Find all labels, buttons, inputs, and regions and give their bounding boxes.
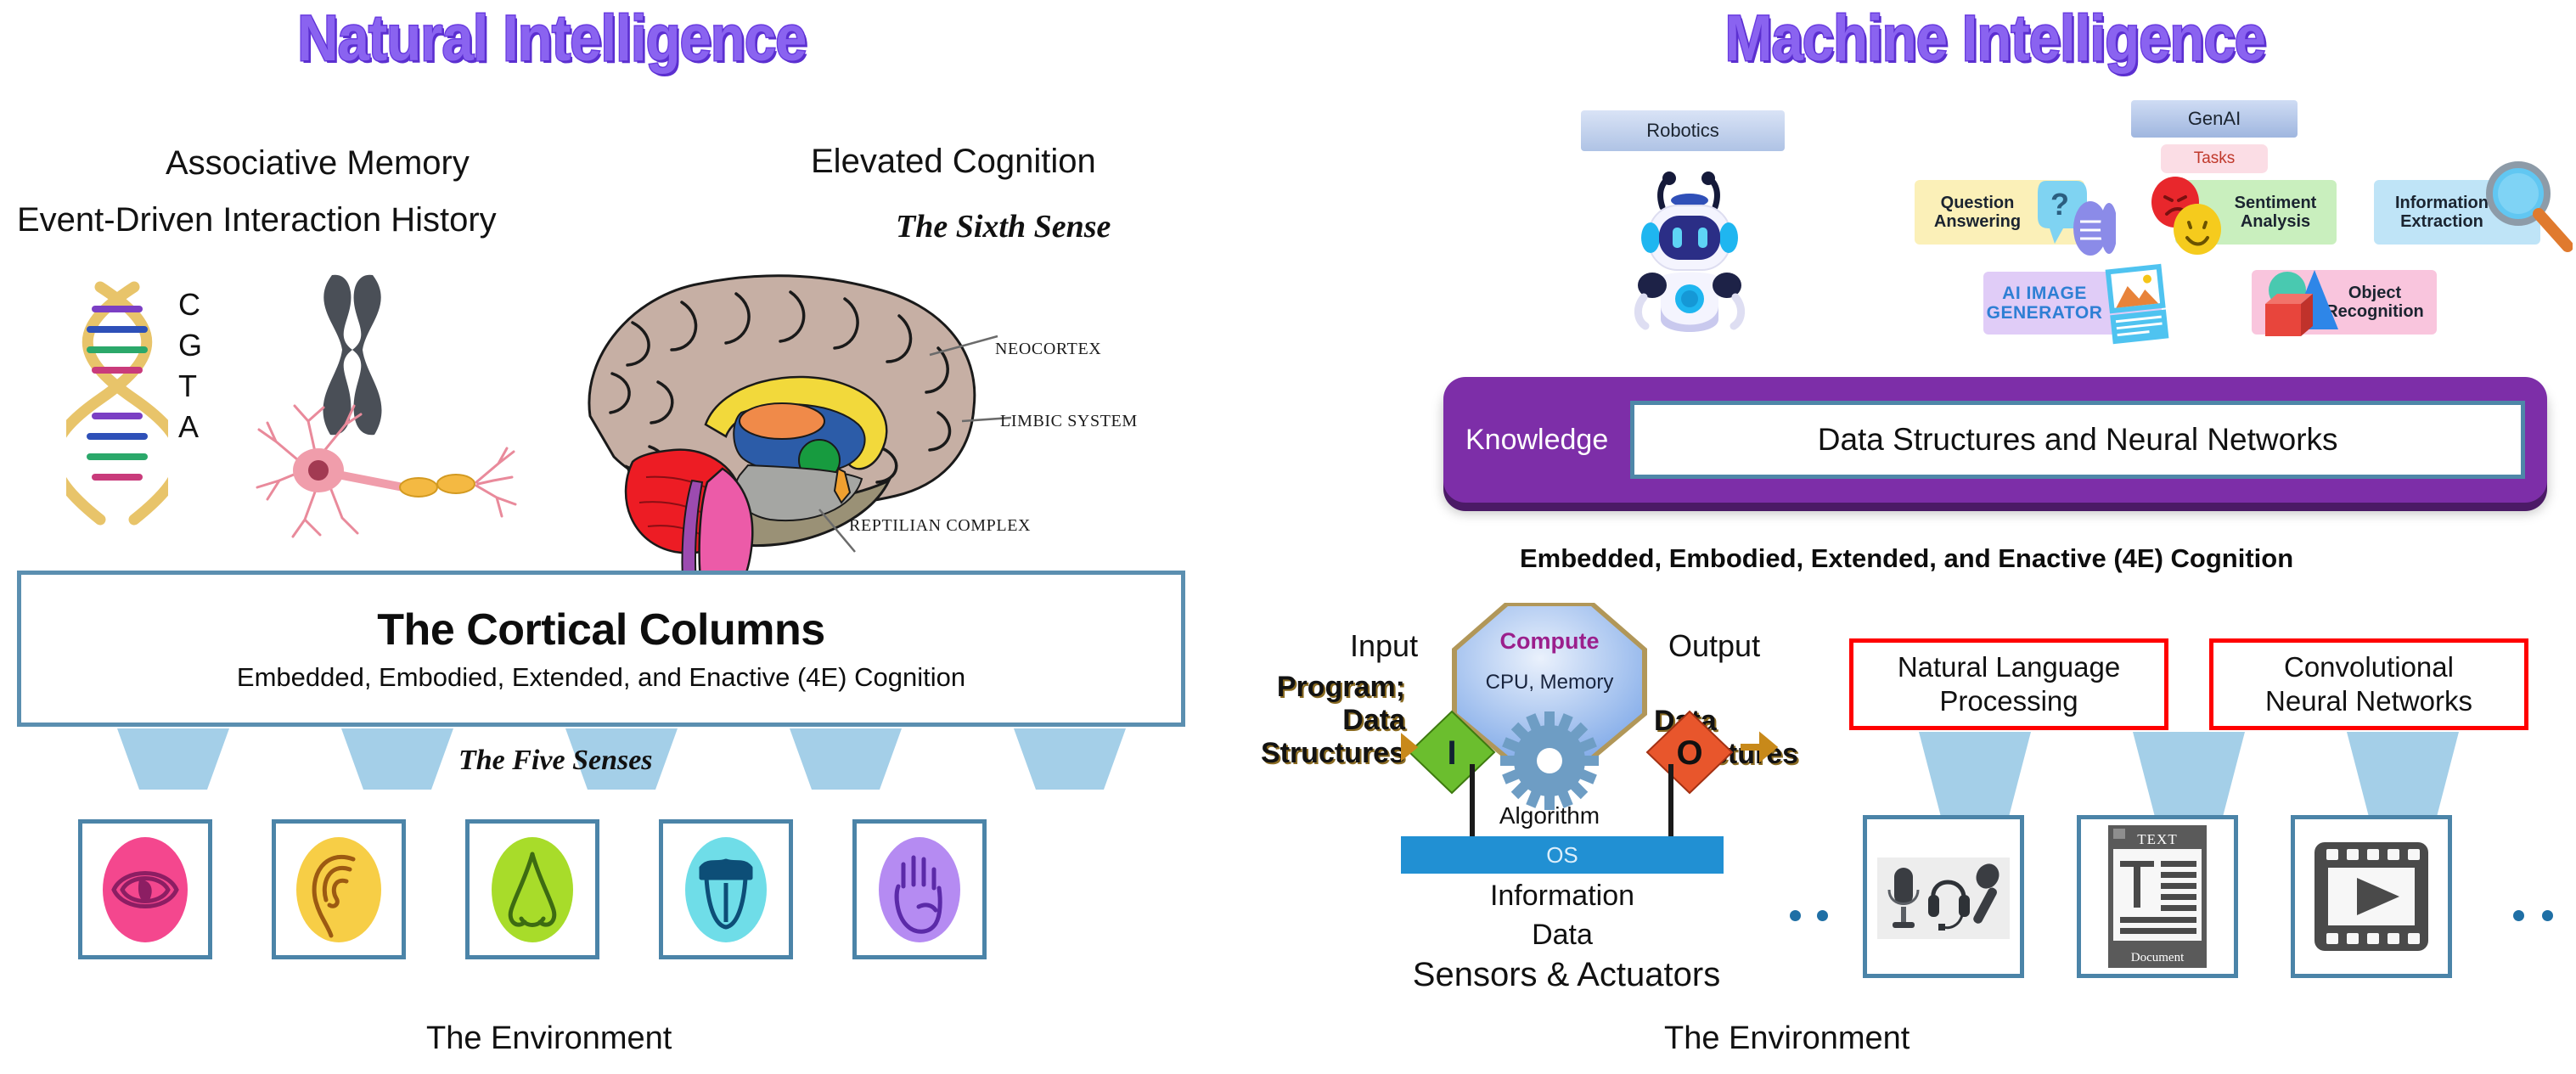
dna-base-g: G	[178, 325, 202, 366]
knowledge-bar: Knowledge Data Structures and Neural Net…	[1443, 377, 2547, 503]
ellipsis-dot	[1790, 910, 1801, 921]
diagram-canvas: Natural Intelligence Associative Memory …	[0, 0, 2576, 1074]
input-label: Input	[1350, 628, 1418, 664]
os-bar: OS	[1401, 836, 1724, 874]
input-detail-line: Data	[1214, 704, 1405, 737]
task-chip-label: Question Answering	[1915, 194, 2040, 231]
elevated-cognition-heading: Elevated Cognition	[811, 143, 1096, 181]
picture-icon	[2097, 263, 2177, 345]
hand-icon	[873, 834, 966, 946]
modality-funnels-right	[1849, 732, 2528, 817]
magnifier-icon	[2479, 158, 2573, 260]
five-senses-label: The Five Senses	[458, 745, 653, 777]
associative-memory-heading: Associative Memory	[166, 144, 470, 183]
svg-text:Document: Document	[2131, 951, 2185, 964]
brain-label-reptilian-complex: REPTILIAN COMPLEX	[849, 516, 1031, 536]
svg-text:I: I	[1447, 734, 1456, 772]
output-label: Output	[1668, 628, 1760, 664]
text-document-icon: TEXT Document	[2108, 825, 2207, 968]
ear-icon	[292, 834, 385, 946]
cortical-columns-title: The Cortical Columns	[377, 604, 824, 655]
dna-base-t: T	[178, 366, 202, 407]
io-nodes-icon: I O	[1401, 703, 1783, 856]
ellipsis-dot	[1817, 910, 1828, 921]
sense-card-touch[interactable]	[852, 819, 987, 959]
robot-icon	[1613, 170, 1766, 348]
sense-card-taste[interactable]	[659, 819, 793, 959]
dna-base-c: C	[178, 284, 202, 325]
knowledge-content-box: Data Structures and Neural Networks	[1630, 401, 2525, 479]
sensors-actuators-label: Sensors & Actuators	[1367, 956, 1766, 994]
cpu-memory-label: CPU, Memory	[1443, 671, 1656, 694]
modality-card-video[interactable]	[2291, 815, 2452, 978]
genai-label: GenAI	[2188, 108, 2241, 130]
model-box-label: ConvolutionalNeural Networks	[2265, 650, 2472, 719]
data-label: Data	[1401, 919, 1724, 952]
event-driven-heading: Event-Driven Interaction History	[17, 201, 497, 239]
genai-chip[interactable]: GenAI	[2131, 100, 2298, 138]
ellipsis-dot	[2542, 910, 2553, 921]
model-box-label: Natural LanguageProcessing	[1898, 650, 2120, 719]
sense-card-smell[interactable]	[465, 819, 599, 959]
brain-label-limbic-system: LIMBIC SYSTEM	[1000, 412, 1138, 431]
input-detail-line: Structures	[1214, 737, 1405, 770]
right-four-e-cognition-line: Embedded, Embodied, Extended, and Enacti…	[1520, 543, 2293, 574]
dna-helix-icon	[66, 280, 168, 526]
knowledge-content: Data Structures and Neural Networks	[1818, 422, 2338, 458]
tongue-icon	[679, 834, 773, 946]
right-environment-label: The Environment	[1664, 1021, 1910, 1057]
tasks-label: Tasks	[2194, 149, 2236, 168]
left-panel-title: Natural Intelligence	[111, 2, 993, 76]
modality-card-text[interactable]: TEXT Document	[2077, 815, 2238, 978]
knowledge-label: Knowledge	[1465, 424, 1608, 457]
sixth-sense-subheading: The Sixth Sense	[896, 208, 1111, 245]
ellipsis-dot	[2513, 910, 2524, 921]
microphone-headset-icon	[1877, 846, 2010, 947]
model-box-nlp[interactable]: Natural LanguageProcessing	[1849, 638, 2168, 730]
film-play-icon	[2309, 837, 2433, 956]
compute-label: Compute	[1443, 628, 1656, 655]
svg-text:?: ?	[2050, 187, 2069, 222]
input-detail-line: Program;	[1214, 671, 1405, 704]
robotics-label: Robotics	[1646, 120, 1719, 142]
input-detail: Program; Data Structures	[1214, 671, 1405, 770]
right-panel-title: Machine Intelligence	[1555, 2, 2436, 76]
svg-text:O: O	[1676, 734, 1702, 772]
nose-icon	[486, 834, 579, 946]
model-box-cnn[interactable]: ConvolutionalNeural Networks	[2209, 638, 2528, 730]
robotics-chip[interactable]: Robotics	[1581, 110, 1785, 151]
eye-icon	[98, 834, 192, 946]
cortical-columns-box: The Cortical Columns Embedded, Embodied,…	[17, 571, 1185, 727]
cortical-columns-subtitle: Embedded, Embodied, Extended, and Enacti…	[237, 662, 965, 693]
svg-text:TEXT: TEXT	[2137, 831, 2177, 847]
question-bubble-icon: ?	[2038, 174, 2116, 262]
information-label: Information	[1401, 880, 1724, 913]
brain-label-neocortex: NEOCORTEX	[995, 340, 1101, 359]
dna-base-a: A	[178, 407, 202, 447]
task-chip-label: Sentiment Analysis	[2214, 194, 2337, 231]
shapes-icon	[2258, 265, 2343, 343]
os-label: OS	[1546, 842, 1578, 869]
dna-bases: C G T A	[178, 284, 202, 447]
modality-card-audio[interactable]	[1863, 815, 2024, 978]
brain-cross-section-icon	[539, 255, 1015, 594]
emoji-faces-icon	[2145, 173, 2230, 261]
tasks-chip[interactable]: Tasks	[2161, 144, 2268, 173]
sense-card-sight[interactable]	[78, 819, 212, 959]
task-chip-label: AI IMAGE GENERATOR	[1983, 284, 2106, 323]
algorithm-label: Algorithm	[1477, 802, 1622, 829]
sense-card-hearing[interactable]	[272, 819, 406, 959]
neuron-icon	[242, 399, 522, 543]
left-environment-label: The Environment	[426, 1021, 672, 1057]
